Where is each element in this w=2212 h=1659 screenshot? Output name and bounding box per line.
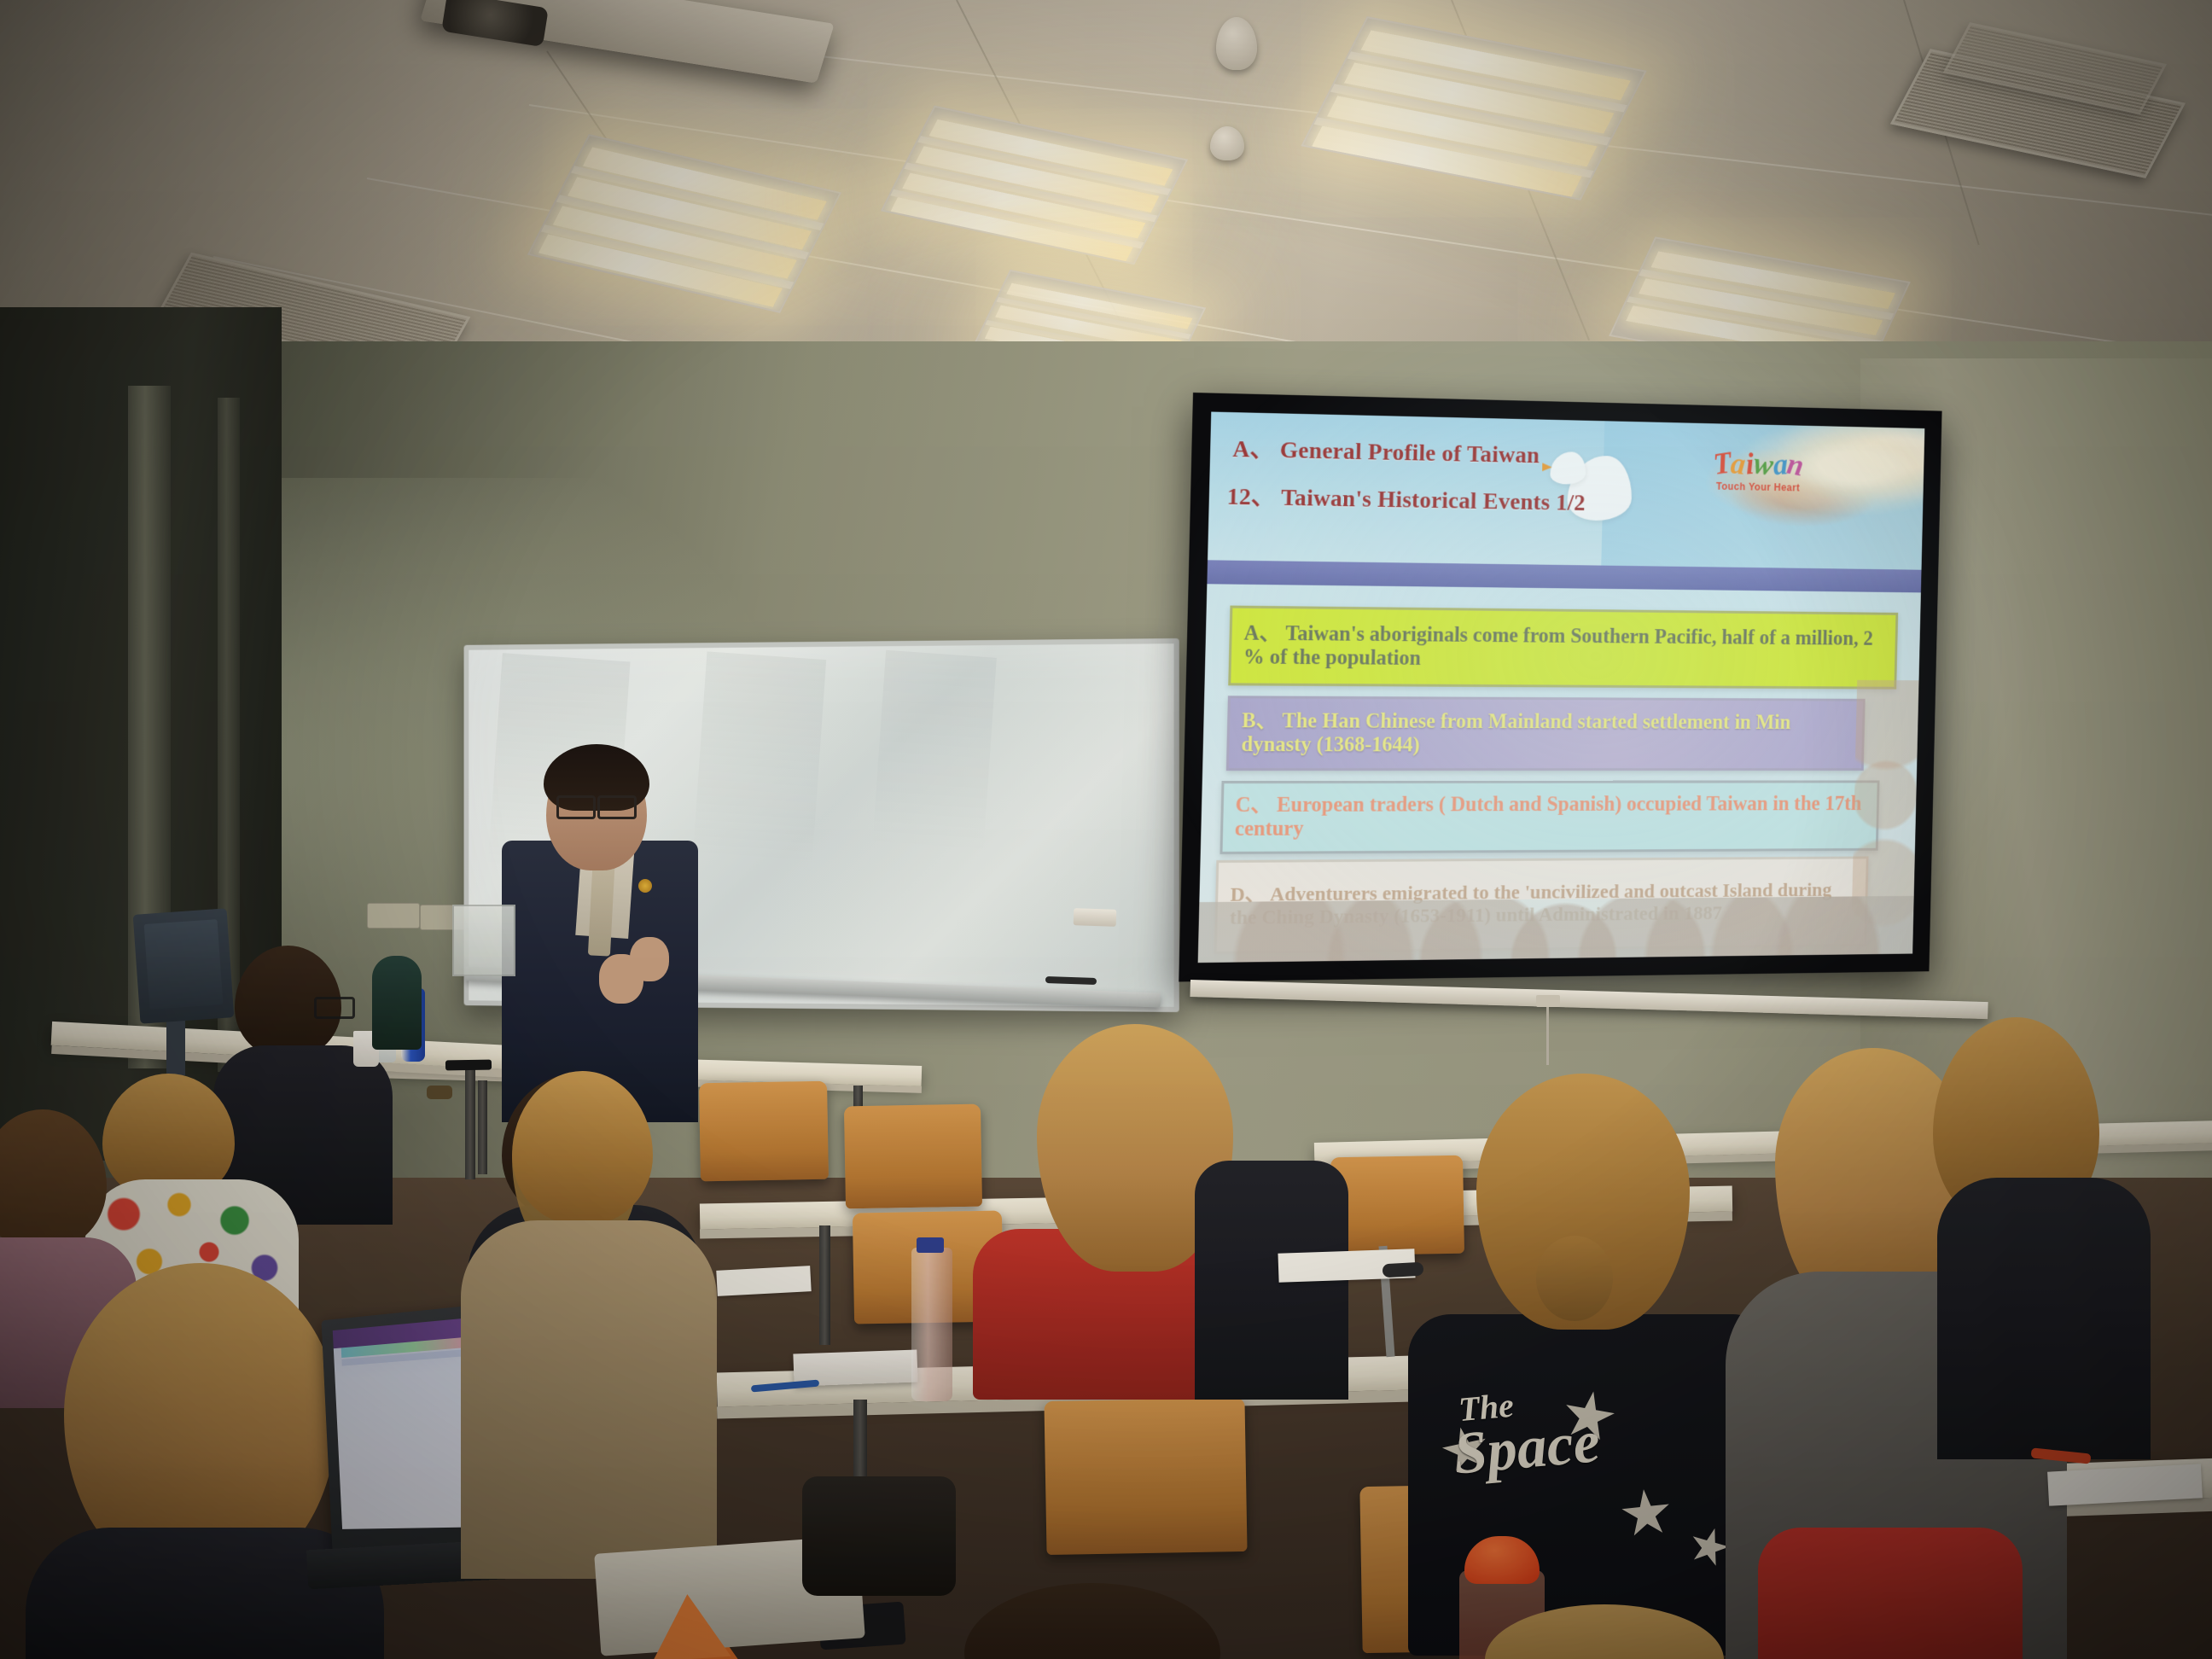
desk-leg [819,1225,830,1345]
lecture-hall-photo: A、 General Profile of Taiwan 12、 Taiwan'… [0,0,2212,1659]
slide-header-photo [1602,421,1925,570]
slide-bullet-a: A、 Taiwan's aboriginals come from Southe… [1229,606,1898,690]
slide-bullet-b-text: B、 The Han Chinese from Mainland started… [1241,710,1851,758]
chair[interactable] [1044,1398,1247,1555]
jacket-print-text: TheSpace [1458,1382,1603,1482]
glasses-icon [597,795,637,819]
glasses-icon [314,997,355,1019]
projection-screen-frame: A、 General Profile of Taiwan 12、 Taiwan'… [1179,393,1941,981]
slide-wave-decoration [1198,896,1914,963]
person-torso [26,1528,384,1659]
wall-socket-plate[interactable] [367,903,420,928]
person-torso [461,1220,717,1579]
projection-screen-pull-cord[interactable] [1546,1004,1549,1065]
office-chair[interactable] [372,956,422,1050]
red-coat-on-chair [1758,1528,2023,1659]
presentation-slide: A、 General Profile of Taiwan 12、 Taiwan'… [1198,412,1925,963]
paper-sheet [716,1266,811,1296]
projection-screen-cord-handle[interactable] [1536,995,1560,1007]
desk-leg [465,1068,475,1179]
slide-bullet-b: B、 The Han Chinese from Mainland started… [1226,696,1865,771]
mobile-phone[interactable] [445,1060,492,1071]
whiteboard-reflection [872,650,997,854]
whiteboard-eraser[interactable] [1074,908,1117,927]
bottle-cap-icon [917,1237,944,1253]
small-object [427,1086,452,1099]
wall-whiteboard-small [452,905,515,976]
bag [802,1476,956,1596]
whiteboard-reflection [693,651,826,864]
taiwan-logo-wordmark: Taiwan [1674,447,1842,481]
triangle-reflector-icon [648,1592,731,1659]
projection-screen-surface: A、 General Profile of Taiwan 12、 Taiwan'… [1198,412,1925,963]
bird-beak-icon [1542,463,1552,472]
slide-header: A、 General Profile of Taiwan 12、 Taiwan'… [1208,412,1924,571]
presenter-hand [630,937,669,981]
glasses-on-desk[interactable] [1382,1262,1424,1278]
bird-icon [1550,451,1586,484]
desk-leg [478,1080,487,1174]
chair[interactable] [1330,1155,1464,1256]
slide-header-line-2: 12、 Taiwan's Historical Events 1/2 [1226,478,1586,518]
monitor-screen [144,919,224,1010]
person-hair-tie [1536,1236,1613,1321]
chair[interactable] [699,1081,829,1182]
water-bottle[interactable] [911,1248,952,1401]
slide-header-line-1: A、 General Profile of Taiwan [1232,430,1540,470]
slide-bullet-c-text: C、 European traders ( Dutch and Spanish)… [1235,793,1866,841]
taiwan-tourism-logo: Taiwan Touch Your Heart [1674,447,1842,493]
presenter-lapel-pin [638,879,652,893]
slide-bullet-a-text: A、 Taiwan's aboriginals come from Southe… [1243,622,1884,674]
person-torso [1937,1178,2151,1459]
chair[interactable] [844,1104,982,1209]
glasses-icon [556,795,596,819]
slide-bullet-c: C、 European traders ( Dutch and Spanish)… [1220,780,1879,854]
